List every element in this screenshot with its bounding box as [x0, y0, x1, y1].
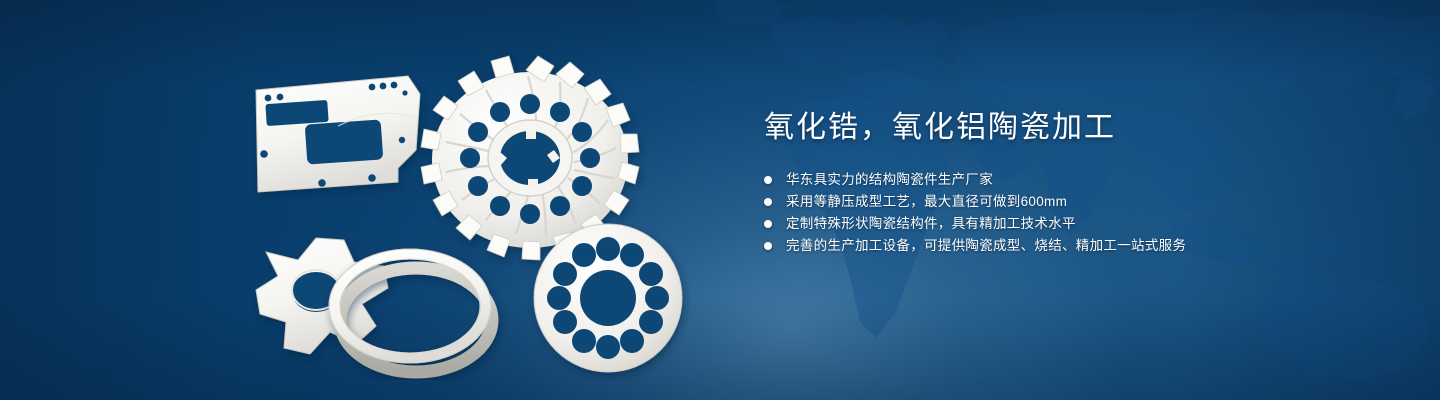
bullet-dot-icon: [764, 242, 772, 250]
list-item: 采用等静压成型工艺，最大直径可做到600mm: [764, 195, 1384, 209]
hero-banner: 氧化锆，氧化铝陶瓷加工 华东具实力的结构陶瓷件生产厂家 采用等静压成型工艺，最大…: [0, 0, 1440, 400]
bullet-dot-icon: [764, 198, 772, 206]
list-item-label: 采用等静压成型工艺，最大直径可做到600mm: [786, 194, 1067, 209]
page-title: 氧化锆，氧化铝陶瓷加工: [764, 108, 1384, 148]
ceramic-parts-image: [230, 30, 730, 380]
bullet-dot-icon: [764, 220, 772, 228]
list-item: 华东具实力的结构陶瓷件生产厂家: [764, 173, 1384, 187]
list-item: 完善的生产加工设备，可提供陶瓷成型、烧结、精加工一站式服务: [764, 239, 1384, 253]
part-ceramic-hole-disc: [534, 224, 682, 372]
feature-list: 华东具实力的结构陶瓷件生产厂家 采用等静压成型工艺，最大直径可做到600mm 定…: [764, 173, 1384, 253]
list-item: 定制特殊形状陶瓷结构件，具有精加工技术水平: [764, 217, 1384, 231]
banner-copy: 氧化锆，氧化铝陶瓷加工 华东具实力的结构陶瓷件生产厂家 采用等静压成型工艺，最大…: [764, 108, 1384, 253]
list-item-label: 华东具实力的结构陶瓷件生产厂家: [786, 172, 993, 187]
part-ceramic-cross: [256, 238, 388, 354]
bullet-dot-icon: [764, 176, 772, 184]
part-ceramic-plate: [256, 76, 420, 192]
list-item-label: 完善的生产加工设备，可提供陶瓷成型、烧结、精加工一站式服务: [786, 238, 1186, 253]
list-item-label: 定制特殊形状陶瓷结构件，具有精加工技术水平: [786, 216, 1076, 231]
